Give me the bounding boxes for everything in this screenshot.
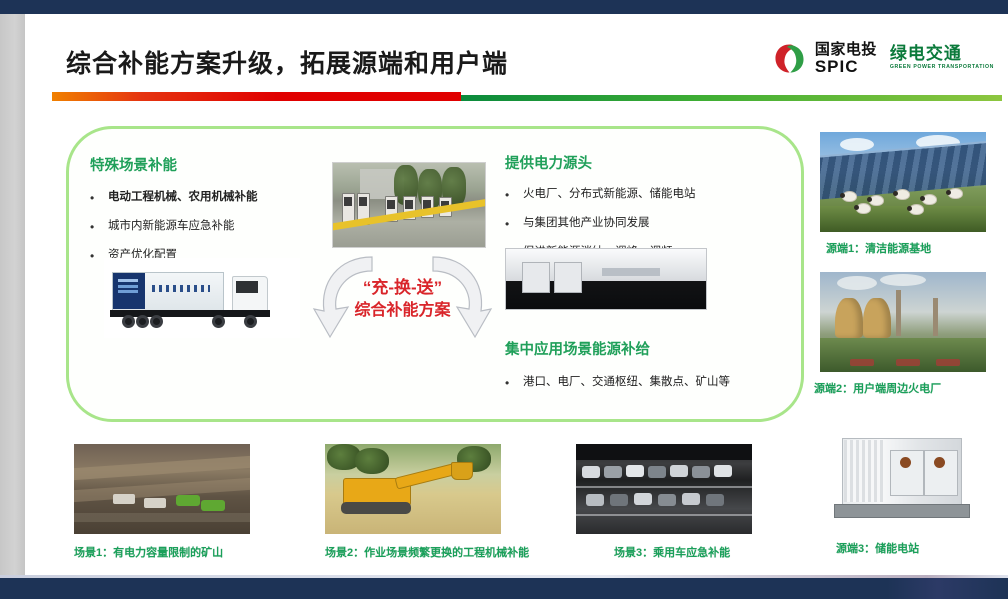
truck-container-panel-shape (113, 273, 145, 309)
left-edge-strip (0, 14, 27, 578)
mine-vehicle-shape (176, 495, 200, 506)
car-shape (692, 466, 710, 478)
sheep-shape (910, 205, 923, 214)
container-label-shape (602, 268, 660, 276)
car-shape (604, 466, 622, 478)
truck-wheel-shape (136, 315, 149, 328)
car-shape (648, 466, 666, 478)
sheep-shape (857, 204, 870, 213)
truck-wheel-shape (212, 315, 225, 328)
loader-track-shape (341, 502, 411, 514)
list-item: •火电厂、分布式新能源、储能电站 (505, 187, 770, 203)
mine-vehicle-shape (113, 494, 135, 504)
haul-road-shape (74, 513, 250, 522)
scene-caption-3: 场景3：乘用车应急补能 (614, 544, 730, 560)
sheep-shape (949, 189, 962, 198)
lane-marking-shape (576, 514, 752, 516)
scene-caption-2: 场景2：作业场景频繁更换的工程机械补能 (325, 544, 529, 560)
source-caption-2: 源端2：用户端周边火电厂 (814, 380, 941, 396)
cooling-tower-shape (835, 298, 863, 338)
bullet-text: 火电厂、分布式新能源、储能电站 (523, 187, 696, 203)
list-item: •城市内新能源车应急补能 (90, 219, 305, 235)
cooling-tower-shape (863, 298, 891, 338)
truck-wheel-shape (122, 315, 135, 328)
central-line-1: “充-换-送” (300, 277, 505, 300)
spic-en-text: SPIC (815, 58, 877, 75)
battery-container-photo (505, 248, 707, 310)
charging-station-photo (332, 162, 486, 248)
ground-shape (820, 338, 986, 372)
smoke-shape (837, 276, 877, 290)
car-shape (706, 494, 724, 506)
mine-vehicle-shape (144, 498, 166, 508)
mobile-charging-truck-photo (104, 258, 300, 338)
lane-marking-shape (576, 486, 752, 488)
sheep-shape (896, 190, 909, 199)
car-shape (682, 493, 700, 505)
energy-storage-station-photo (820, 424, 986, 532)
smoke-shape (880, 274, 926, 286)
green-power-cn-text: 绿电交通 (890, 45, 994, 62)
brand-logo: 国家电投 SPIC 绿电交通 GREEN POWER TRANSPORTATIO… (773, 36, 994, 80)
loader-arm-shape (394, 462, 459, 489)
power-source-heading: 提供电力源头 (505, 152, 770, 173)
sheep-shape (870, 196, 883, 205)
roof-shape (850, 359, 874, 366)
sheep-shape (843, 192, 856, 201)
spic-emblem-icon (773, 42, 806, 75)
car-shape (670, 465, 688, 477)
car-shape (610, 494, 628, 506)
truck-wheel-shape (150, 315, 163, 328)
spic-cn-text: 国家电投 (815, 42, 877, 57)
ess-skid-base-shape (834, 504, 970, 518)
car-shape (714, 465, 732, 477)
bullet-dot-icon: • (90, 219, 108, 235)
bullet-dot-icon: • (90, 190, 108, 206)
container-door-shape (554, 262, 582, 293)
construction-machinery-photo (325, 444, 501, 534)
parking-lot-photo (576, 444, 752, 534)
centralized-supply-column: 集中应用场景能源补给 •港口、电厂、交通枢纽、集散点、矿山等 (505, 338, 760, 404)
battery-modules-shape (152, 285, 210, 292)
sheep-shape (923, 195, 936, 204)
bullet-text: 与集团其他产业协同发展 (523, 216, 650, 232)
chimney-shape (896, 290, 901, 336)
container-door-shape (522, 262, 550, 293)
tree-shape (355, 448, 389, 474)
central-line-2: 综合补能方案 (300, 300, 505, 322)
car-shape (634, 493, 652, 505)
car-shape (658, 494, 676, 506)
spic-wordmark: 国家电投 SPIC (815, 42, 877, 75)
centralized-supply-bullets: •港口、电厂、交通枢纽、集散点、矿山等 (505, 375, 760, 391)
accent-bar-right (461, 95, 1003, 101)
list-item: •与集团其他产业协同发展 (505, 216, 770, 232)
central-concept-text: “充-换-送” 综合补能方案 (300, 277, 505, 322)
bullet-text: 城市内新能源车应急补能 (108, 219, 235, 235)
special-scenario-bullets: •电动工程机械、农用机械补能 •城市内新能源车应急补能 •资产优化配置 (90, 190, 305, 265)
mine-scene-photo (74, 444, 250, 534)
scene-caption-1: 场景1：有电力容量限制的矿山 (74, 544, 223, 560)
ess-door-shape (890, 450, 924, 496)
title-accent-bar (52, 92, 1002, 101)
bullet-dot-icon: • (505, 216, 523, 232)
ceiling-shape (576, 444, 752, 460)
bottom-frame-bar (0, 578, 1008, 599)
list-item: •电动工程机械、农用机械补能 (90, 190, 305, 206)
thermal-power-plant-photo (820, 272, 986, 372)
ess-door-shape (924, 450, 958, 496)
centralized-supply-heading: 集中应用场景能源补给 (505, 338, 760, 359)
central-concept-graphic: “充-换-送” 综合补能方案 (300, 245, 505, 370)
top-frame-bar (0, 0, 1008, 14)
car-shape (626, 465, 644, 477)
bullet-dot-icon: • (505, 187, 523, 203)
roof-shape (936, 359, 960, 366)
terrain-shape (74, 455, 250, 481)
green-power-wordmark: 绿电交通 GREEN POWER TRANSPORTATION (890, 45, 994, 70)
roof-shape (896, 359, 920, 366)
bullet-dot-icon: • (505, 375, 523, 391)
car-shape (582, 466, 600, 478)
bullet-text: 港口、电厂、交通枢纽、集散点、矿山等 (523, 375, 730, 391)
loader-bucket-shape (451, 462, 473, 480)
grass-shape (820, 206, 986, 232)
ess-fins-shape (844, 440, 884, 502)
special-scenario-heading: 特殊场景补能 (90, 154, 305, 175)
clean-energy-base-photo (820, 132, 986, 232)
source-caption-1: 源端1：清洁能源基地 (826, 240, 931, 256)
page-title: 综合补能方案升级，拓展源端和用户端 (66, 44, 508, 80)
source-caption-3: 源端3：储能电站 (836, 540, 919, 556)
green-power-en-text: GREEN POWER TRANSPORTATION (890, 65, 994, 70)
slide-canvas: 综合补能方案升级，拓展源端和用户端 国家电投 SPIC 绿电交通 GREEN P… (0, 0, 1008, 599)
truck-wheel-shape (244, 315, 257, 328)
car-shape (586, 494, 604, 506)
list-item: •港口、电厂、交通枢纽、集散点、矿山等 (505, 375, 760, 391)
mine-vehicle-shape (201, 500, 225, 511)
accent-bar-left (52, 92, 461, 101)
cloud-shape (840, 138, 874, 151)
chimney-shape (933, 298, 938, 336)
bullet-text: 电动工程机械、农用机械补能 (108, 190, 258, 206)
truck-cab-shape (232, 276, 268, 312)
